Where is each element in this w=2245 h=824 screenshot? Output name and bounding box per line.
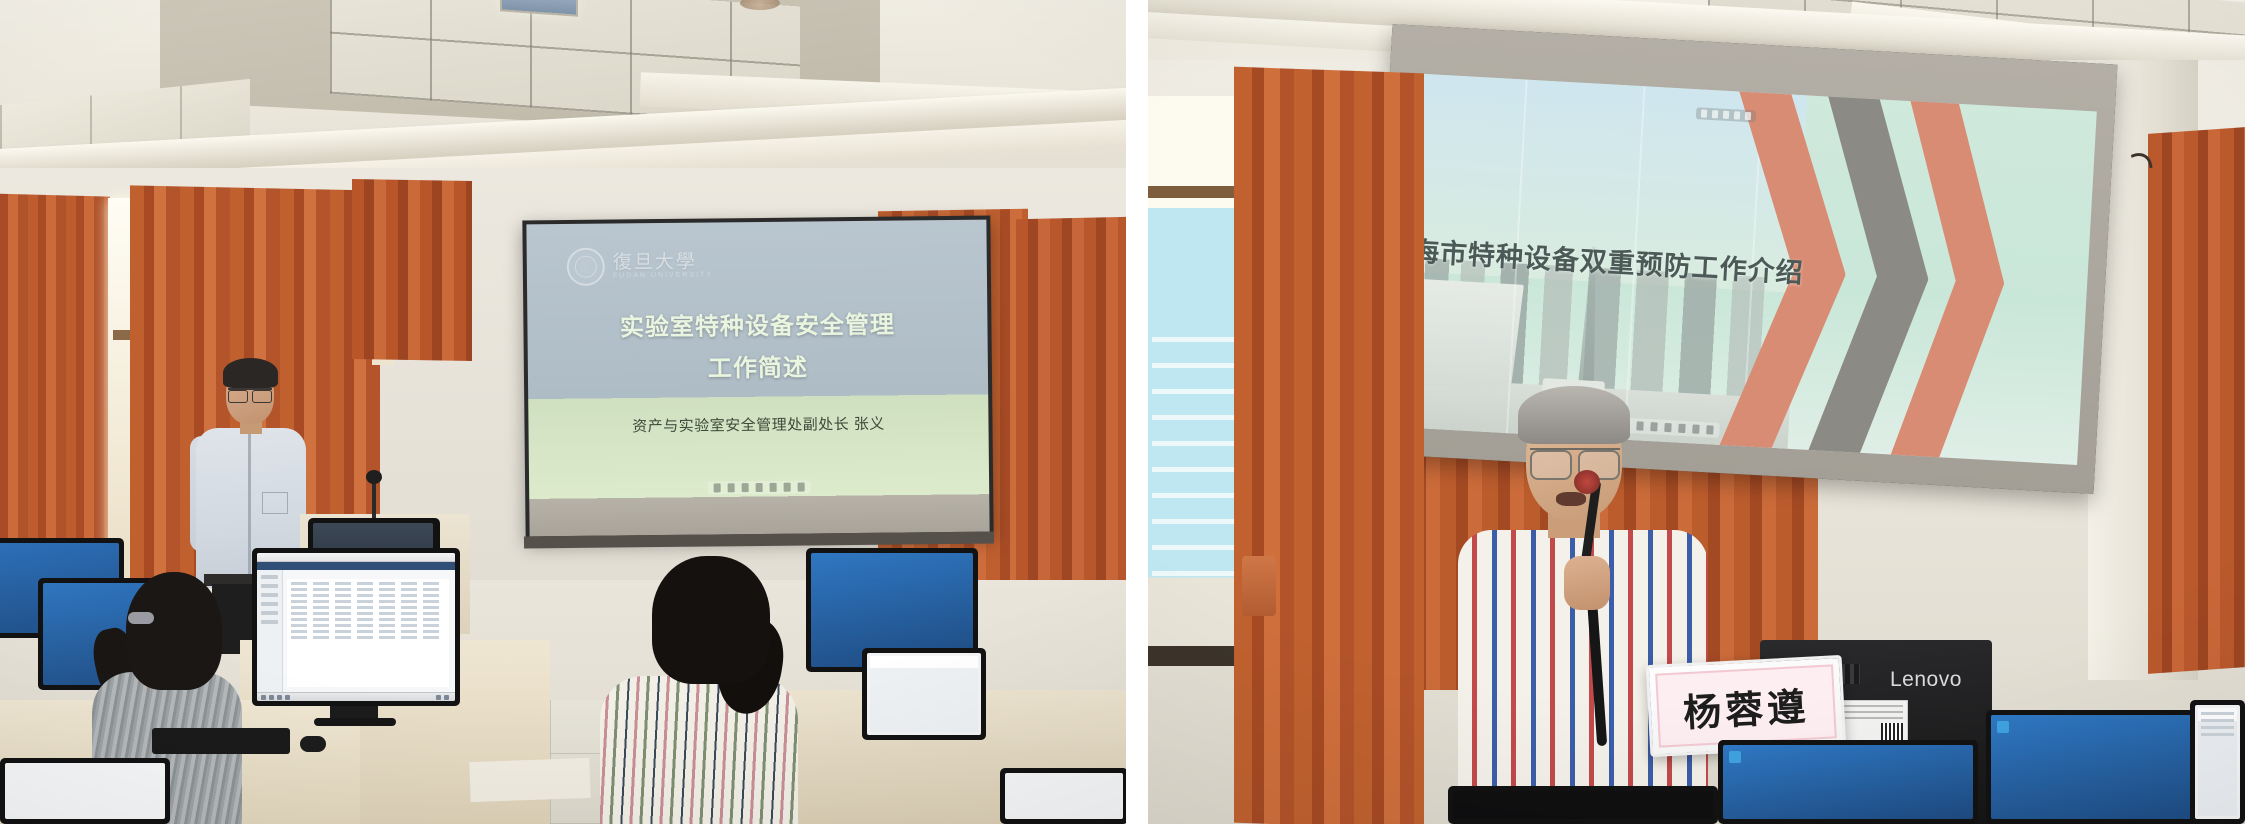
logo-text: 復旦大學 <box>613 252 713 273</box>
table-row[interactable] <box>291 618 445 621</box>
monitor-right-front-screen[interactable] <box>867 653 981 735</box>
table-row[interactable] <box>291 600 445 603</box>
ppt-menu-icon[interactable] <box>714 483 721 492</box>
dell-monitor-base <box>314 718 396 726</box>
ppt-zoom-icon[interactable] <box>1692 424 1699 433</box>
ppt-next-icon[interactable] <box>1678 424 1685 433</box>
projection-screen-frame: 復旦大學 FUDAN UNIVERSITY 实验室特种设备安全管理 工作简述 资… <box>522 216 993 541</box>
logo-subtext: FUDAN UNIVERSITY <box>613 272 713 280</box>
dell-monitor-screen[interactable] <box>257 553 455 701</box>
speaker-hair <box>1518 386 1630 444</box>
speaker-hand <box>1564 556 1610 610</box>
ppt-prev-icon[interactable] <box>1664 423 1671 432</box>
sidebar-item[interactable] <box>261 575 278 579</box>
monitor-foreground-right <box>1000 768 1126 824</box>
data-table[interactable] <box>287 579 449 687</box>
left-photo: 復旦大學 FUDAN UNIVERSITY 实验室特种设备安全管理 工作简述 资… <box>0 0 1126 824</box>
desktop-app-icon[interactable] <box>1997 721 2009 733</box>
ppt-pen-icon[interactable] <box>1712 110 1718 118</box>
taskbar-app-icon[interactable] <box>277 695 282 700</box>
app-sidebar[interactable] <box>257 570 283 692</box>
nameplate-text: 杨蓉遵 <box>1682 675 1811 737</box>
glasses-icon <box>228 388 272 399</box>
keyboard[interactable] <box>152 728 290 754</box>
glasses-icon <box>1530 448 1620 474</box>
ppt-next-icon[interactable] <box>770 483 777 492</box>
projection-screen: 上海市特种设备双重预防工作介绍 <box>1388 73 2097 465</box>
microphone-icon <box>366 470 382 484</box>
right-photo: 上海市特种设备双重预防工作介绍 <box>1148 0 2245 824</box>
ui-line <box>2201 719 2234 722</box>
sidebar-item[interactable] <box>261 584 278 588</box>
projection-screen: 復旦大學 FUDAN UNIVERSITY 实验室特种设备安全管理 工作简述 资… <box>526 220 989 537</box>
monitor-foreground-left <box>1448 786 1718 824</box>
label-line <box>1839 711 1903 713</box>
app-header-bar <box>257 562 455 570</box>
lenovo-brand-text: Lenovo <box>1890 668 1962 692</box>
projection-screen-frame: 上海市特种设备双重预防工作介绍 <box>1369 24 2118 494</box>
table-row[interactable] <box>291 630 445 633</box>
table-row[interactable] <box>291 612 445 615</box>
ppt-pointer-icon[interactable] <box>1723 110 1729 118</box>
table-row[interactable] <box>291 624 445 627</box>
mouse[interactable] <box>300 736 326 752</box>
ppt-grid-icon[interactable] <box>1636 421 1643 430</box>
table-row[interactable] <box>291 636 445 639</box>
powerpoint-toolbar-overlay[interactable] <box>708 480 811 494</box>
slide-content: 復旦大學 FUDAN UNIVERSITY 实验室特种设备安全管理 工作简述 资… <box>526 220 989 537</box>
monitor-foreground-left <box>0 758 170 824</box>
collage-gutter <box>1126 0 1148 824</box>
taskbar-start-icon[interactable] <box>261 695 266 700</box>
curtain-left-inner <box>352 179 472 361</box>
ui-line <box>2201 726 2234 729</box>
hair-tie-icon <box>128 612 154 624</box>
photo-collage: 復旦大學 FUDAN UNIVERSITY 实验室特种设备安全管理 工作简述 资… <box>0 0 2245 824</box>
monitor-foreground-center-screen[interactable] <box>1723 745 1973 819</box>
slide-title-line-1: 实验室特种设备安全管理 <box>527 304 987 344</box>
ui-line <box>2201 733 2234 736</box>
monitor-far-right-ui <box>2198 708 2237 816</box>
ppt-pen-icon[interactable] <box>1650 422 1657 431</box>
taskbar-clock-icon[interactable] <box>444 695 449 700</box>
microphone-icon[interactable] <box>1574 470 1600 494</box>
ppt-menu-icon[interactable] <box>1701 109 1707 117</box>
windows-taskbar[interactable] <box>257 692 455 701</box>
label-line <box>1839 717 1903 719</box>
ppt-prev-icon[interactable] <box>756 483 763 492</box>
slide-title-line-2: 工作简述 <box>528 346 988 386</box>
monitor-foreground-left-screen[interactable] <box>1453 791 1713 819</box>
monitor-far-right-screen[interactable] <box>2195 705 2240 819</box>
curtain-far-right <box>1016 217 1126 599</box>
papers-on-desk <box>469 758 590 802</box>
monitor-right-front <box>862 648 986 740</box>
ppt-next-icon[interactable] <box>1745 112 1751 120</box>
taskbar-search-icon[interactable] <box>269 695 274 700</box>
presenter-shirt-placket <box>248 432 251 582</box>
presenter-shirt-pocket <box>262 492 288 514</box>
university-seal-icon <box>567 248 605 286</box>
student-right-head <box>652 556 770 684</box>
ppt-options-icon[interactable] <box>1706 425 1713 434</box>
microphone-stand <box>372 478 376 522</box>
table-row[interactable] <box>291 582 445 585</box>
curtain-right <box>2148 126 2245 674</box>
browser-chrome-bar[interactable] <box>257 553 455 562</box>
table-row[interactable] <box>291 588 445 591</box>
table-row[interactable] <box>291 606 445 609</box>
ui-line <box>2201 712 2234 715</box>
sidebar-item[interactable] <box>261 620 278 624</box>
taskbar-app-icon[interactable] <box>285 695 290 700</box>
monitor-foreground-center <box>1718 740 1978 824</box>
monitor-right-front-ui <box>870 656 978 732</box>
student-left-head <box>126 572 222 690</box>
sidebar-item[interactable] <box>261 602 278 606</box>
desktop-app-icon[interactable] <box>1729 751 1741 763</box>
curtain-left <box>1234 67 1424 824</box>
ppt-options-icon[interactable] <box>798 483 805 492</box>
ppt-pen-icon[interactable] <box>728 483 735 492</box>
fudan-university-logo: 復旦大學 FUDAN UNIVERSITY <box>567 242 737 290</box>
slide-subtitle: 资产与实验室安全管理处副处长 张义 <box>528 412 988 438</box>
monitor-far-right <box>2190 700 2245 824</box>
sidebar-item[interactable] <box>261 593 278 597</box>
speaker-mouth <box>1556 492 1586 506</box>
dell-monitor <box>252 548 460 706</box>
monitor-foreground-left-screen[interactable] <box>5 763 165 819</box>
sidebar-item[interactable] <box>261 611 278 615</box>
ppt-prev-icon[interactable] <box>1734 111 1740 119</box>
curtain-tieback <box>1242 556 1276 616</box>
presenter-hair <box>223 358 278 388</box>
taskbar-tray-icon[interactable] <box>436 695 441 700</box>
ppt-pointer-icon[interactable] <box>742 483 749 492</box>
ppt-zoom-icon[interactable] <box>784 483 791 492</box>
monitor-foreground-right-screen[interactable] <box>1005 773 1123 819</box>
table-row[interactable] <box>291 594 445 597</box>
label-line <box>1839 705 1903 707</box>
